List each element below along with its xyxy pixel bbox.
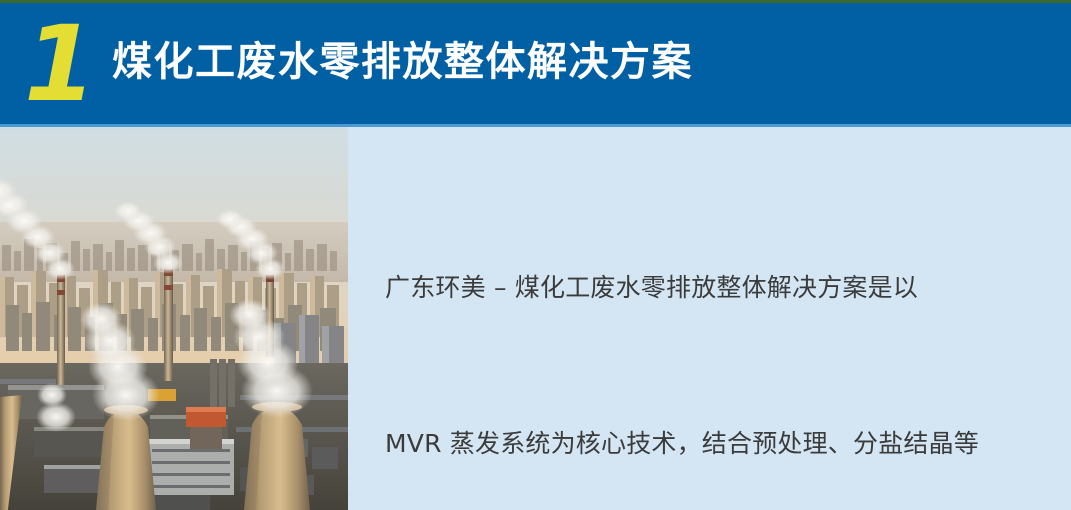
description-line: MVR 蒸发系统为核心技术，结合预处理、分盐结晶等 — [385, 418, 1015, 470]
header-band: 1 煤化工废水零排放整体解决方案 — [0, 3, 1071, 124]
industrial-plant-photo — [0, 127, 348, 510]
description-paragraph: 广东环美 – 煤化工废水零排放整体解决方案是以 MVR 蒸发系统为核心技术，结合… — [385, 158, 1015, 510]
section-number: 1 — [24, 15, 86, 113]
page-title: 煤化工废水零排放整体解决方案 — [112, 36, 693, 88]
photo-illustration — [0, 127, 348, 510]
description-line: 广东环美 – 煤化工废水零排放整体解决方案是以 — [385, 262, 1015, 314]
slide-root: 1 煤化工废水零排放整体解决方案 — [0, 0, 1071, 510]
